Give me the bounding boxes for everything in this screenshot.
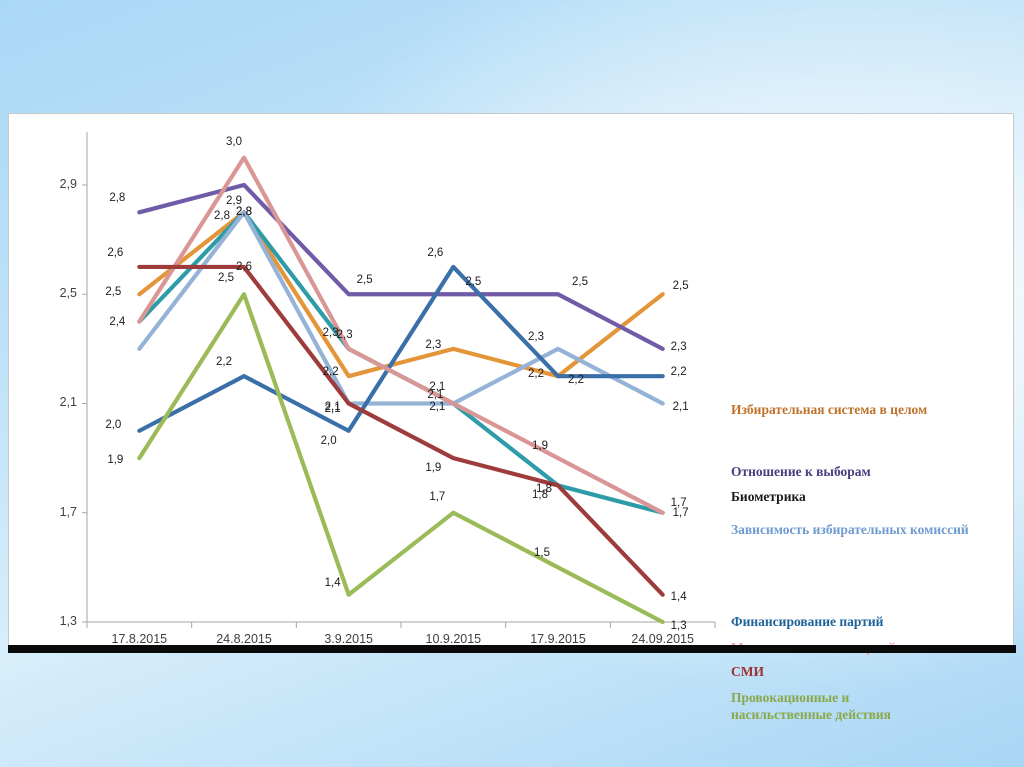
data-point-label: 2,0 [105, 419, 121, 431]
line-chart: 1,31,72,12,52,917.8.201524.8.20153.9.201… [9, 114, 1013, 646]
data-point-label: 2,1 [325, 401, 341, 413]
data-point-label: 2,4 [109, 316, 125, 328]
legend-item[interactable]: Финансирование партий [731, 614, 883, 630]
data-point-label: 1,7 [429, 491, 445, 503]
data-point-label: 2,2 [568, 374, 584, 386]
data-point-label: 2,8 [214, 210, 230, 222]
legend-item[interactable]: Избирательная система в целом [731, 402, 927, 418]
data-point-label: 2,3 [425, 339, 441, 351]
data-point-label: 1,5 [534, 547, 550, 559]
data-point-label: 2,1 [673, 401, 689, 413]
series-line [139, 294, 662, 622]
data-point-label: 2,8 [109, 192, 125, 204]
y-axis-tick-label: 2,1 [25, 395, 77, 409]
slide-canvas: 1,31,72,12,52,917.8.201524.8.20153.9.201… [0, 0, 1024, 767]
legend-item[interactable]: СМИ [731, 664, 764, 680]
legend-item[interactable]: Провокационные и [731, 690, 849, 706]
data-point-label: 2,5 [572, 276, 588, 288]
data-point-label: 1,8 [532, 489, 548, 501]
data-point-label: 1,4 [671, 591, 687, 603]
data-point-label: 2,5 [357, 274, 373, 286]
data-point-label: 2,3 [337, 329, 353, 341]
x-axis-tick-label: 24.09.2015 [608, 632, 718, 646]
y-axis-tick-label: 2,5 [25, 286, 77, 300]
data-point-label: 2,2 [216, 356, 232, 368]
data-point-label: 2,5 [673, 280, 689, 292]
legend-item[interactable]: Биометрика [731, 489, 806, 505]
data-point-label: 2,5 [465, 276, 481, 288]
data-point-label: 2,9 [226, 195, 242, 207]
data-point-label: 2,6 [427, 247, 443, 259]
data-point-label: 2,2 [528, 368, 544, 380]
x-axis-tick-label: 10.9.2015 [398, 632, 508, 646]
data-point-label: 1,9 [532, 440, 548, 452]
data-point-label: 1,4 [325, 577, 341, 589]
data-point-label: 2,1 [429, 401, 445, 413]
data-point-label: 2,0 [321, 435, 337, 447]
x-axis-tick-label: 17.9.2015 [503, 632, 613, 646]
data-point-label: 2,2 [671, 366, 687, 378]
legend-item[interactable]: насильственные действия [731, 707, 891, 723]
data-point-label: 2,8 [236, 206, 252, 218]
legend-item[interactable]: Отношение к выборам [731, 464, 871, 480]
y-axis-tick-label: 2,9 [25, 177, 77, 191]
chart-panel: 1,31,72,12,52,917.8.201524.8.20153.9.201… [8, 113, 1014, 647]
series-line [139, 267, 662, 431]
data-point-label: 3,0 [226, 136, 242, 148]
y-axis-tick-label: 1,3 [25, 614, 77, 628]
data-point-label: 2,5 [218, 272, 234, 284]
legend-item[interactable]: Зависимость избирательных комиссий [731, 522, 969, 538]
data-point-label: 2,5 [105, 286, 121, 298]
series-line [139, 267, 662, 595]
data-point-label: 2,6 [107, 247, 123, 259]
data-point-label: 2,3 [528, 331, 544, 343]
y-axis-tick-label: 1,7 [25, 505, 77, 519]
data-point-label: 2,6 [236, 261, 252, 273]
x-axis-tick-label: 3.9.2015 [294, 632, 404, 646]
x-axis-tick-label: 17.8.2015 [84, 632, 194, 646]
panel-drop-shadow [8, 645, 1016, 653]
data-point-label: 2,2 [323, 366, 339, 378]
x-axis-tick-label: 24.8.2015 [189, 632, 299, 646]
data-point-label: 1,3 [671, 620, 687, 632]
data-point-label: 2,3 [323, 327, 339, 339]
data-point-label: 1,7 [673, 507, 689, 519]
chart-svg [9, 114, 1013, 646]
data-point-label: 2,3 [671, 341, 687, 353]
data-point-label: 1,9 [107, 454, 123, 466]
data-point-label: 2,1 [429, 381, 445, 393]
data-point-label: 1,9 [425, 462, 441, 474]
